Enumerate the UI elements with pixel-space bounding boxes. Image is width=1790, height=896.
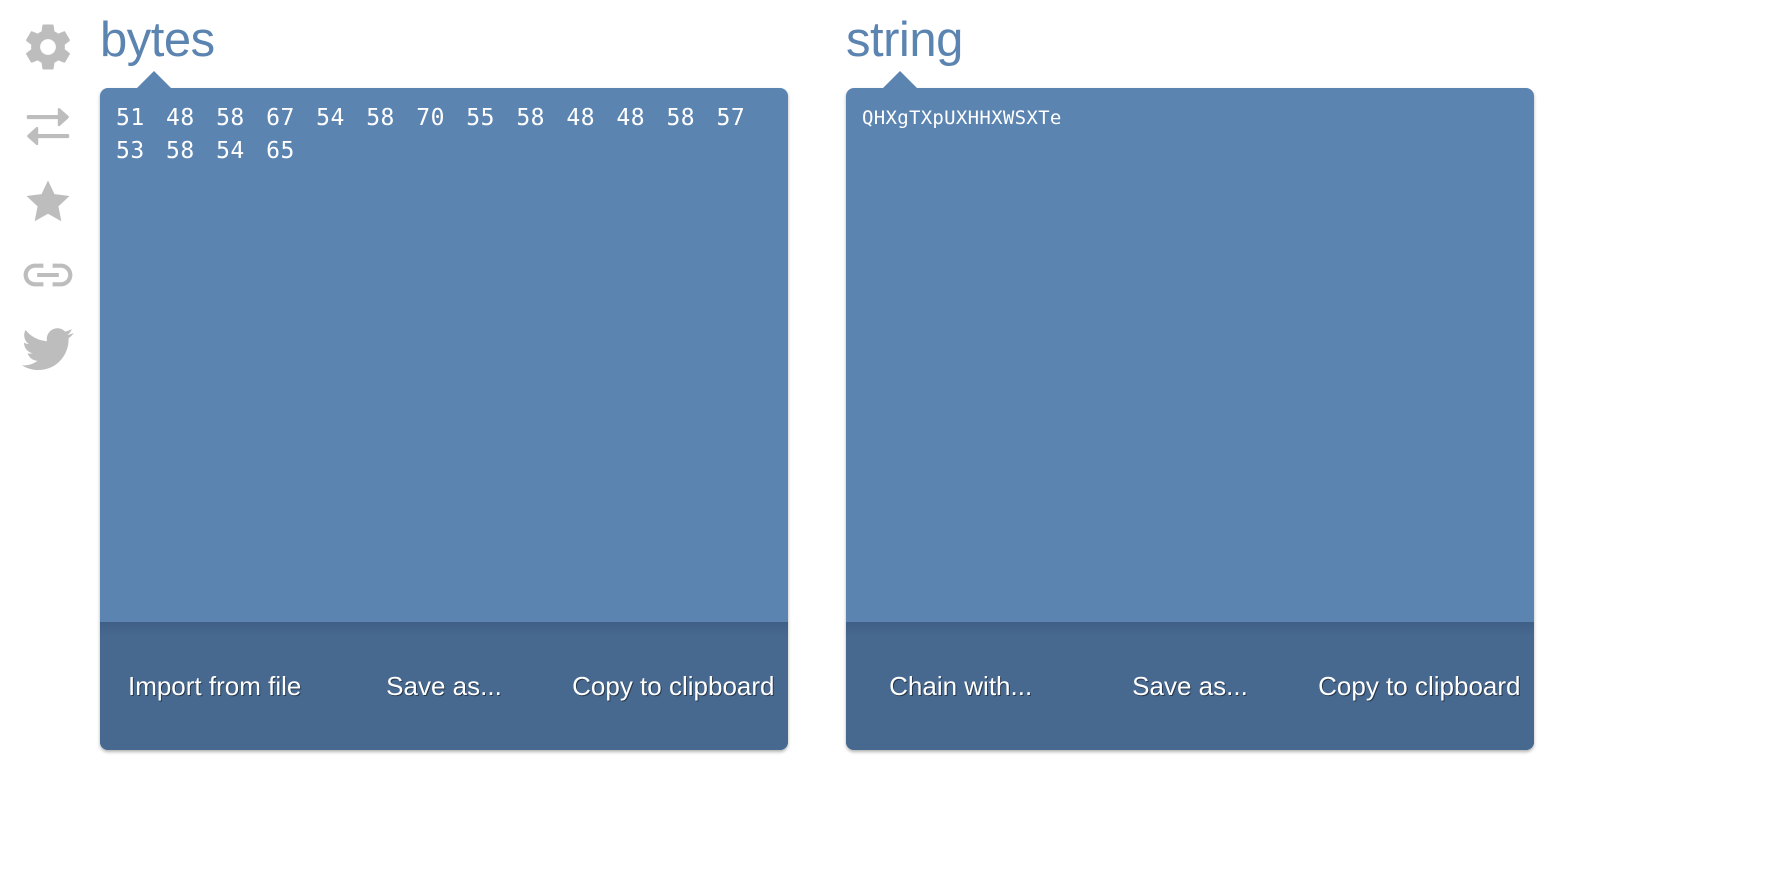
string-value[interactable]: QHXgTXpUXHHXWSXTe (862, 102, 1518, 135)
panel-notch (882, 71, 918, 89)
sidebar-item-swap[interactable] (13, 94, 83, 156)
panel-title-bytes: bytes (100, 16, 215, 65)
link-icon (22, 258, 74, 292)
bytes-footer: Import from file Save as... Copy to clip… (100, 622, 788, 750)
panel-title-string: string (846, 16, 963, 65)
twitter-bird-icon (22, 327, 74, 371)
panel-notch (136, 71, 172, 89)
gear-icon (21, 20, 75, 74)
app-root: bytes 51 48 58 67 54 58 70 55 58 48 48 5… (0, 0, 1790, 896)
sidebar-item-permalink[interactable] (13, 244, 83, 306)
save-as-button[interactable]: Save as... (329, 666, 558, 707)
star-icon (23, 177, 73, 225)
panel-bytes: bytes 51 48 58 67 54 58 70 55 58 48 48 5… (100, 88, 788, 750)
swap-arrows-icon (23, 102, 73, 148)
sidebar-item-settings[interactable] (13, 16, 83, 78)
import-from-file-button[interactable]: Import from file (100, 666, 329, 707)
panel-string: string QHXgTXpUXHHXWSXTe Chain with... S… (846, 88, 1534, 750)
sidebar (0, 0, 96, 896)
chain-with-button[interactable]: Chain with... (846, 666, 1075, 707)
copy-to-clipboard-button[interactable]: Copy to clipboard (559, 666, 788, 707)
copy-to-clipboard-button[interactable]: Copy to clipboard (1305, 666, 1534, 707)
sidebar-item-twitter[interactable] (13, 318, 83, 380)
sidebar-item-favorites[interactable] (13, 170, 83, 232)
bytes-value[interactable]: 51 48 58 67 54 58 70 55 58 48 48 58 57 5… (116, 102, 772, 168)
string-footer: Chain with... Save as... Copy to clipboa… (846, 622, 1534, 750)
bytes-content-area[interactable]: 51 48 58 67 54 58 70 55 58 48 48 58 57 5… (100, 88, 788, 622)
save-as-button[interactable]: Save as... (1075, 666, 1304, 707)
string-content-area[interactable]: QHXgTXpUXHHXWSXTe (846, 88, 1534, 622)
